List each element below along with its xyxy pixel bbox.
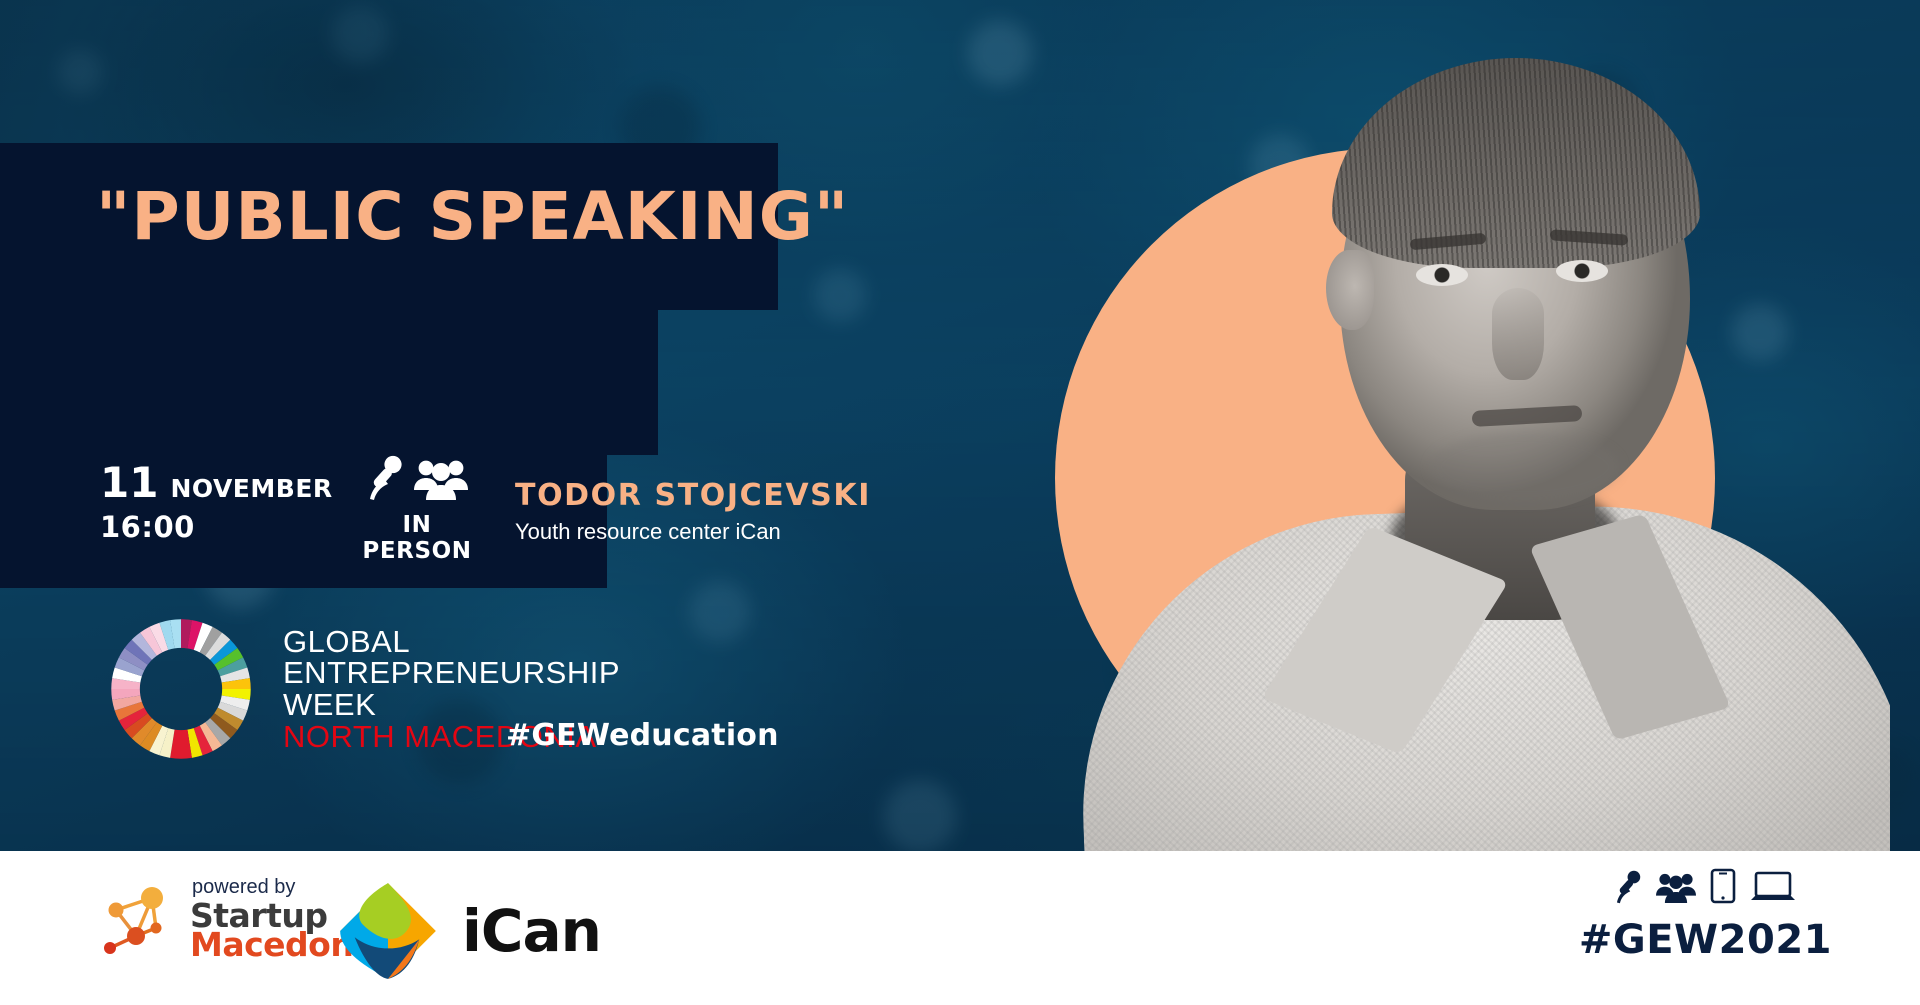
tablet-icon [1710, 868, 1736, 909]
ican-logo: iCan [336, 879, 601, 983]
portrait-hair [1332, 58, 1700, 268]
gew-line-entrepreneurship: ENTREPRENEURSHIP [283, 657, 620, 689]
portrait-chin [1430, 432, 1620, 502]
event-datetime: 11 NOVEMBER 16:00 [100, 462, 333, 544]
year-hashtag: #GEW2021 [1579, 917, 1832, 963]
people-icon [414, 457, 468, 506]
gew-year-block: #GEW2021 [1579, 869, 1832, 963]
gew-line-global: GLOBAL [283, 626, 620, 658]
gew-color-wheel-icon [97, 605, 265, 773]
people-icon [1656, 871, 1696, 909]
event-format-label: IN PERSON [352, 512, 482, 564]
speaker-name: TODOR STOJCEVSKI [515, 478, 871, 513]
navy-panel-middle [0, 310, 658, 455]
startup-network-icon [100, 880, 184, 958]
microphone-icon [1614, 870, 1642, 909]
laptop-icon [1750, 870, 1796, 909]
portrait-ear [1326, 250, 1374, 330]
event-day: 11 [100, 462, 158, 504]
portrait-eye-right [1556, 260, 1608, 282]
event-banner: "PUBLIC SPEAKING" 11 NOVEMBER 16:00 [0, 0, 1920, 1005]
speaker-portrait [1010, 40, 1890, 851]
page-title: "PUBLIC SPEAKING" [96, 178, 776, 255]
gew-line-week: WEEK [283, 689, 620, 721]
footer-bar: powered by Startup Macedonia iCan [0, 851, 1920, 1005]
ican-wordmark: iCan [462, 897, 601, 965]
event-month: NOVEMBER [170, 474, 332, 503]
event-format-badge: IN PERSON [352, 458, 482, 564]
microphone-icon [366, 455, 404, 506]
background-highlight-streak [0, 0, 760, 150]
portrait-eye-left [1416, 264, 1468, 286]
event-time: 16:00 [100, 510, 333, 544]
portrait-nose [1492, 288, 1544, 380]
ican-diamond-icon [336, 879, 440, 983]
speaker-organization: Youth resource center iCan [515, 519, 871, 545]
speaker-info: TODOR STOJCEVSKI Youth resource center i… [515, 478, 871, 545]
topic-hashtag: #GEWeducation [506, 718, 779, 753]
